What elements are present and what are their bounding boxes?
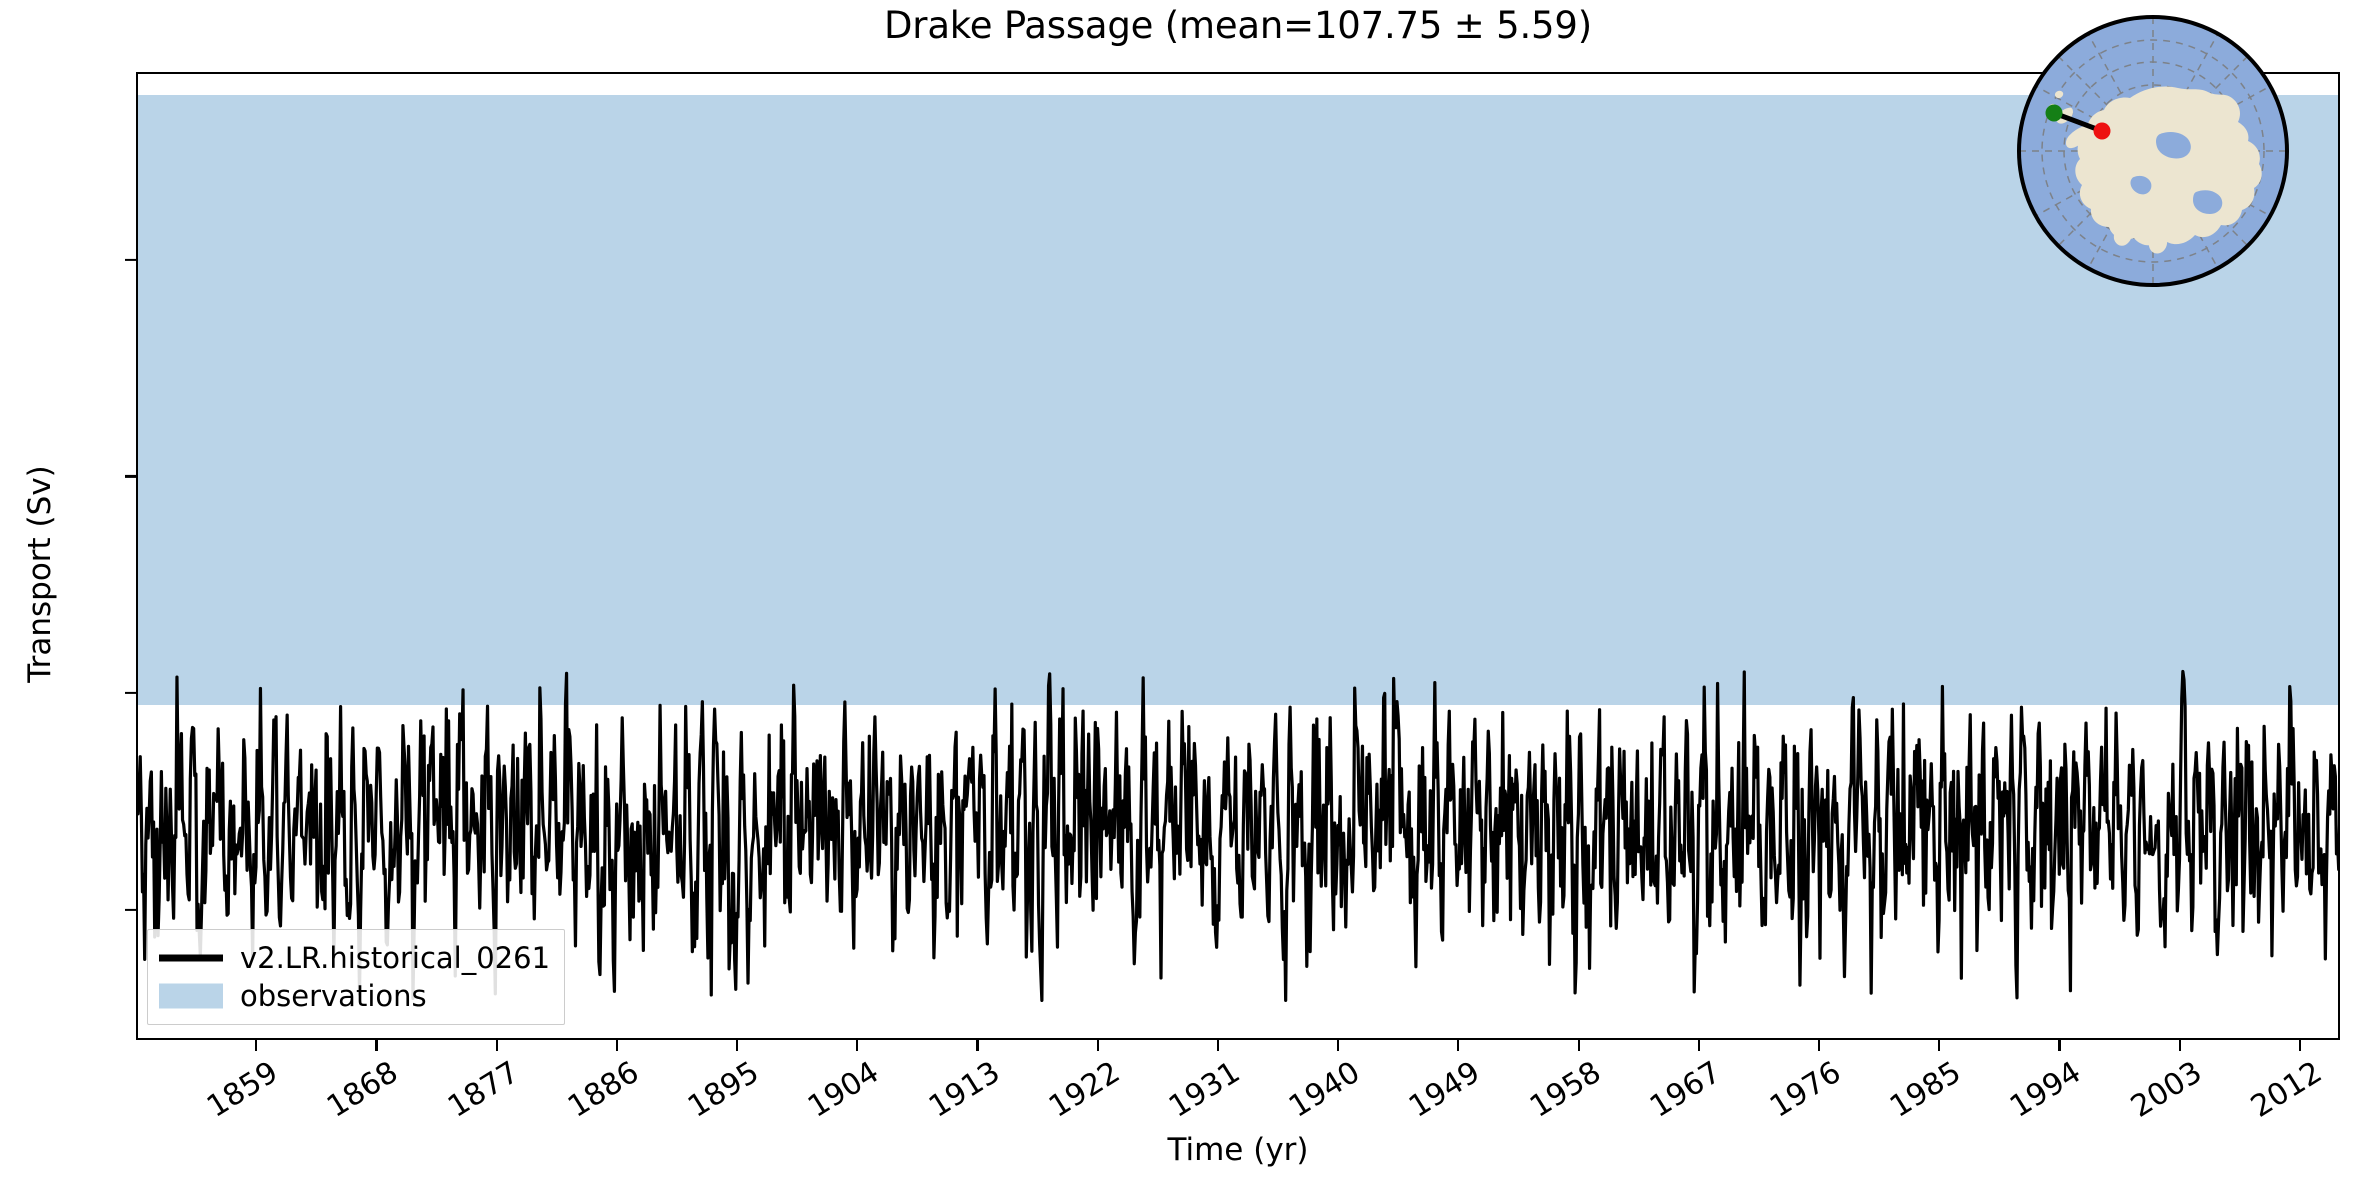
antarctica-polar-inset-map xyxy=(2010,8,2296,294)
x-tick-label: 2012 xyxy=(2245,1057,2325,1125)
x-axis-label: Time (yr) xyxy=(136,1132,2340,1168)
x-tick-mark xyxy=(856,1040,858,1051)
transect-end-marker xyxy=(2094,123,2111,140)
x-tick-label: 1859 xyxy=(201,1057,281,1125)
x-tick-label: 2003 xyxy=(2125,1057,2205,1125)
x-tick-mark xyxy=(496,1040,498,1051)
legend: v2.LR.historical_0261 observations xyxy=(147,929,565,1025)
x-tick-mark xyxy=(1698,1040,1700,1051)
x-tick-mark xyxy=(1097,1040,1099,1051)
x-tick-mark xyxy=(736,1040,738,1051)
x-tick-label: 1976 xyxy=(1764,1057,1844,1125)
x-tick-label: 1994 xyxy=(2004,1057,2084,1125)
x-tick-mark xyxy=(1337,1040,1339,1051)
x-tick-label: 1913 xyxy=(922,1057,1002,1125)
legend-label-observations: observations xyxy=(240,979,427,1013)
timeseries-plot xyxy=(138,74,2338,1038)
x-tick-label: 1949 xyxy=(1403,1057,1483,1125)
x-tick-label: 1877 xyxy=(442,1057,522,1125)
legend-item-observations[interactable]: observations xyxy=(159,977,550,1015)
x-tick-label: 1922 xyxy=(1043,1057,1123,1125)
y-tick-mark xyxy=(125,475,136,477)
y-tick-mark xyxy=(125,909,136,911)
x-tick-mark xyxy=(1217,1040,1219,1051)
x-tick-mark xyxy=(1818,1040,1820,1051)
legend-patch-swatch xyxy=(159,983,223,1009)
x-tick-mark xyxy=(616,1040,618,1051)
x-tick-label: 1967 xyxy=(1644,1057,1724,1125)
x-tick-label: 1940 xyxy=(1283,1057,1363,1125)
y-axis-label: Transport (Sv) xyxy=(22,374,58,774)
transect-start-marker xyxy=(2046,105,2063,122)
x-tick-mark xyxy=(2179,1040,2181,1051)
x-tick-mark xyxy=(255,1040,257,1051)
legend-line-swatch xyxy=(159,945,223,971)
y-tick-mark xyxy=(125,258,136,260)
legend-item-series[interactable]: v2.LR.historical_0261 xyxy=(159,939,550,977)
x-tick-mark xyxy=(1457,1040,1459,1051)
x-tick-mark xyxy=(1578,1040,1580,1051)
y-tick-mark xyxy=(125,692,136,694)
x-tick-mark xyxy=(2058,1040,2060,1051)
figure-canvas: Drake Passage (mean=107.75 ± 5.59) Trans… xyxy=(0,0,2375,1180)
x-tick-label: 1931 xyxy=(1163,1057,1243,1125)
x-tick-mark xyxy=(1938,1040,1940,1051)
x-tick-label: 1985 xyxy=(1884,1057,1964,1125)
x-tick-label: 1958 xyxy=(1524,1057,1604,1125)
x-tick-label: 1895 xyxy=(682,1057,762,1125)
x-tick-mark xyxy=(976,1040,978,1051)
x-tick-label: 1886 xyxy=(562,1057,642,1125)
x-tick-mark xyxy=(2299,1040,2301,1051)
x-tick-mark xyxy=(375,1040,377,1051)
x-tick-label: 1904 xyxy=(802,1057,882,1125)
legend-label-series: v2.LR.historical_0261 xyxy=(240,941,550,975)
x-tick-label: 1868 xyxy=(321,1057,401,1125)
